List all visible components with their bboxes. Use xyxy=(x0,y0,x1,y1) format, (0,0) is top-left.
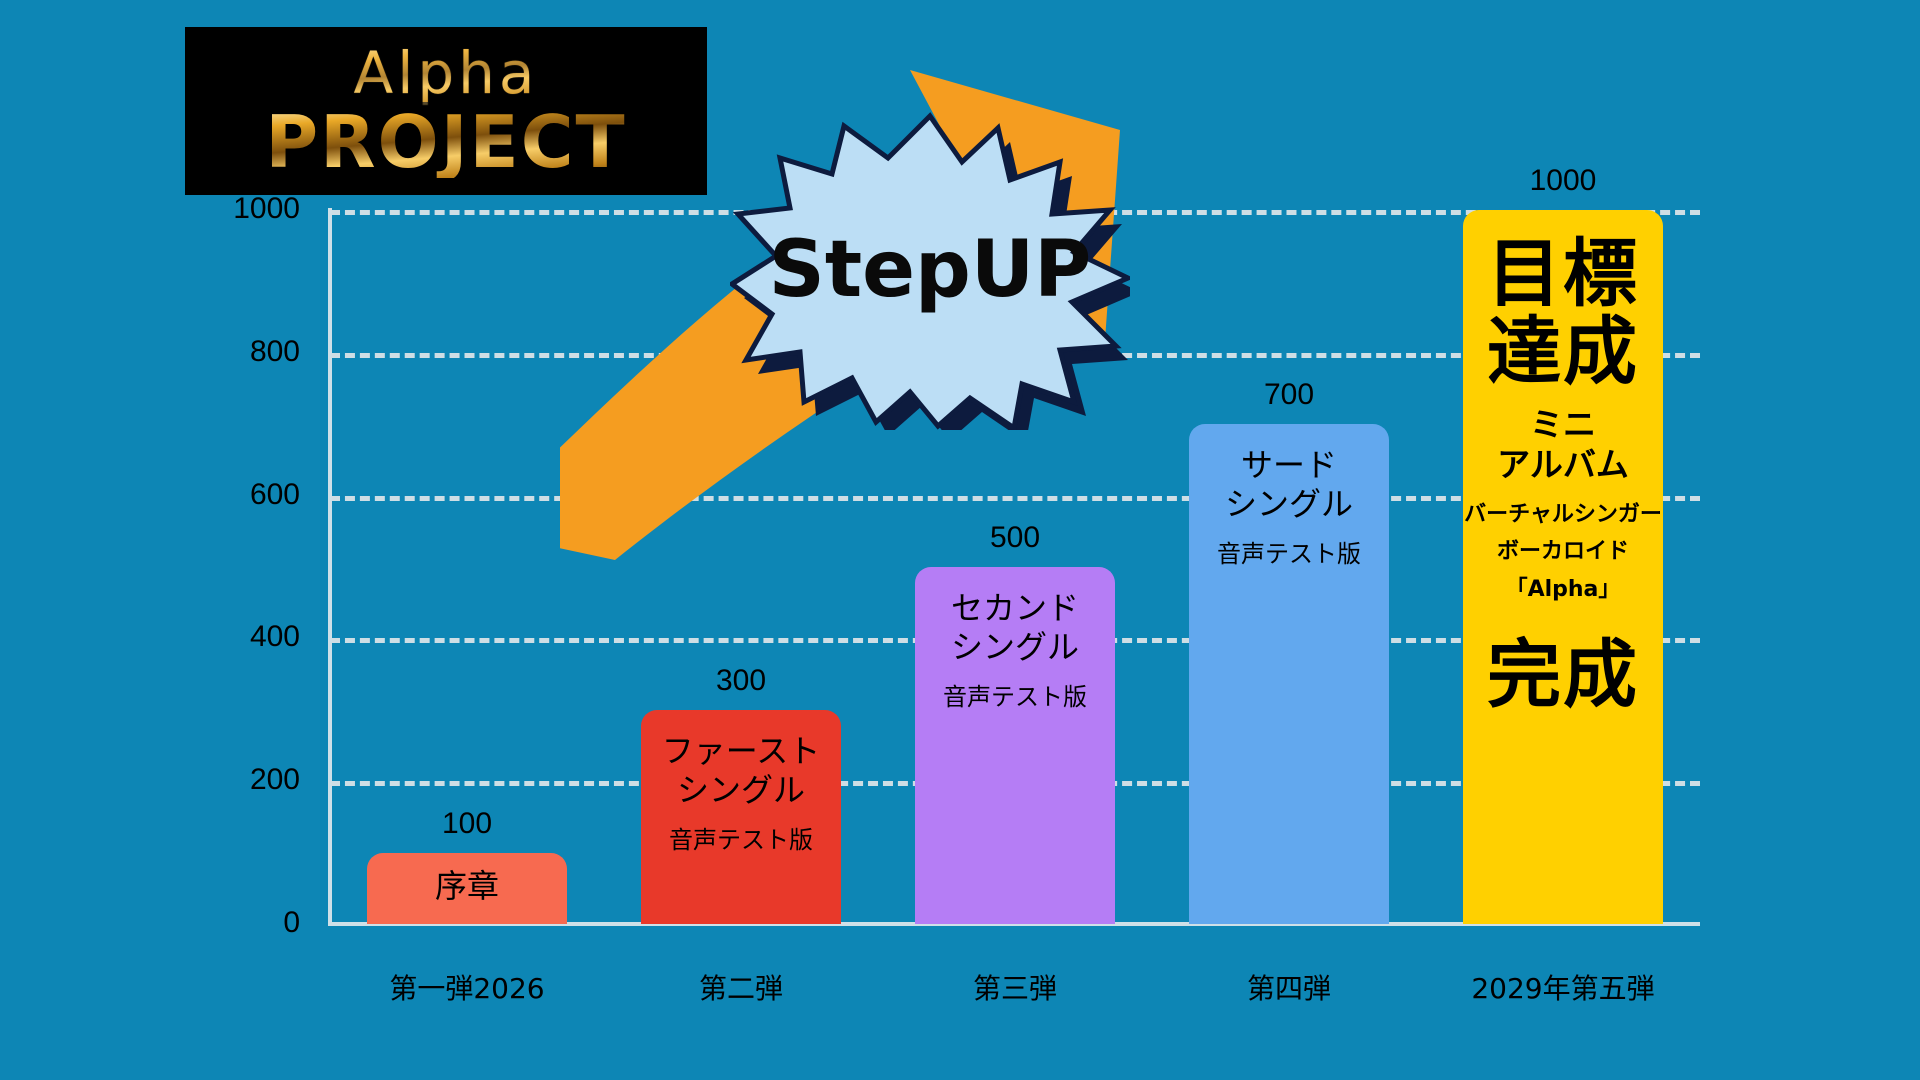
bar-1[interactable]: 序章 xyxy=(367,853,567,924)
bar-5-text-6: ボーカロイド xyxy=(1497,538,1629,566)
bar-2-text-3: 音声テスト版 xyxy=(669,826,813,855)
bar-3-text-1: セカンド xyxy=(951,589,1079,628)
bar-value-label-5: 1000 xyxy=(1463,166,1663,196)
y-tick-label-800: 800 xyxy=(180,337,300,367)
stepup-label: StepUP xyxy=(730,110,1130,430)
bar-5-text-7: 「Alpha」 xyxy=(1506,576,1621,604)
x-tick-label-5: 2029年第五弾 xyxy=(1413,975,1713,1003)
bar-2-text-1: ファースト xyxy=(662,732,820,771)
bar-4-text-3: 音声テスト版 xyxy=(1217,540,1361,569)
bar-4[interactable]: サードシングル音声テスト版 xyxy=(1189,424,1389,924)
bar-5[interactable]: 目標達成ミニアルバムバーチャルシンガーボーカロイド「Alpha」完成 xyxy=(1463,210,1663,924)
y-tick-label-400: 400 xyxy=(180,622,300,652)
logo-line-project: PROJECT xyxy=(265,106,626,178)
bar-5-text-3: ミニ xyxy=(1530,405,1596,445)
bar-value-label-4: 700 xyxy=(1189,380,1389,410)
bar-5-text-1: 目標 xyxy=(1487,236,1639,314)
bar-2-text-2: シングル xyxy=(677,771,805,810)
bar-5-text-2: 達成 xyxy=(1487,314,1639,392)
bar-value-label-2: 300 xyxy=(641,666,841,696)
x-tick-label-4: 第四弾 xyxy=(1139,975,1439,1003)
y-tick-label-1000: 1000 xyxy=(180,194,300,224)
x-tick-label-2: 第二弾 xyxy=(591,975,891,1003)
y-axis-line xyxy=(328,208,332,924)
y-tick-label-0: 0 xyxy=(180,908,300,938)
bar-value-label-1: 100 xyxy=(367,809,567,839)
x-tick-label-3: 第三弾 xyxy=(865,975,1165,1003)
bar-3[interactable]: セカンドシングル音声テスト版 xyxy=(915,567,1115,924)
bar-5-text-5: バーチャルシンガー xyxy=(1464,501,1662,529)
y-tick-label-600: 600 xyxy=(180,480,300,510)
bar-5-text-8: 完成 xyxy=(1487,637,1639,715)
bar-2[interactable]: ファーストシングル音声テスト版 xyxy=(641,710,841,924)
logo-line-alpha: Alpha xyxy=(354,44,539,102)
bar-3-text-2: シングル xyxy=(951,628,1079,667)
y-tick-label-200: 200 xyxy=(180,765,300,795)
bar-value-label-3: 500 xyxy=(915,523,1115,553)
alpha-project-logo: Alpha PROJECT xyxy=(185,27,707,195)
bar-1-text-1: 序章 xyxy=(435,867,499,906)
bar-5-text-4: アルバム xyxy=(1497,445,1629,485)
bar-4-text-1: サード xyxy=(1241,446,1337,485)
x-tick-label-1: 第一弾2026 xyxy=(317,975,617,1003)
stepup-callout: StepUP xyxy=(730,110,1130,430)
bar-3-text-3: 音声テスト版 xyxy=(943,683,1087,712)
bar-4-text-2: シングル xyxy=(1225,485,1353,524)
